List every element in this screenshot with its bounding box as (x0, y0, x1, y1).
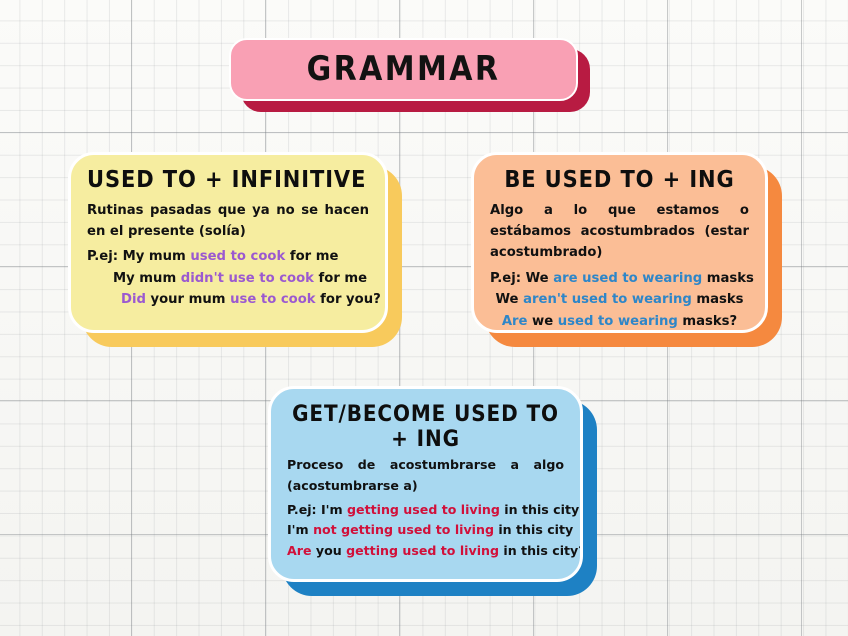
example-mid: your mum (146, 292, 230, 307)
poster-canvas: GRAMMAR USED TO + INFINITIVE Rutinas pas… (0, 0, 848, 636)
example-highlight: Did (121, 292, 146, 307)
example-suffix: for me (285, 249, 338, 264)
example-highlight: not getting used to living (313, 522, 494, 537)
example-suffix: in this city (494, 522, 573, 537)
example-interrogative: Did your mum use to cook for you? (87, 289, 369, 310)
card-used-to-examples: P.ej: My mum used to cook for me My mum … (87, 246, 369, 310)
example-highlight-2: use to cook (230, 292, 315, 307)
example-prefix: My mum (113, 271, 181, 286)
example-suffix: for you? (316, 292, 381, 307)
example-prefix: P.ej: We (490, 271, 553, 286)
example-negative: We aren't used to wearing masks (490, 289, 749, 310)
card-used-to-heading: USED TO + INFINITIVE (87, 167, 369, 193)
card-be-used-to-examples: P.ej: We are used to wearing masks We ar… (490, 268, 749, 332)
example-suffix: masks (702, 271, 754, 286)
example-highlight: aren't used to wearing (523, 292, 692, 307)
card-be-used-to-definition: Algo a lo que estamos o estábamos acostu… (490, 200, 749, 264)
title-banner-face: GRAMMAR (229, 38, 578, 101)
example-suffix: in this city (500, 502, 579, 517)
example-suffix: for me (314, 271, 367, 286)
card-used-to-definition: Rutinas pasadas que ya no se hacen en el… (87, 200, 369, 243)
card-get-used-to-definition: Proceso de acostumbrarse a algo (acostum… (287, 455, 564, 496)
example-interrogative: Are we used to wearing masks? (490, 311, 749, 332)
card-used-to-infinitive: USED TO + INFINITIVE Rutinas pasadas que… (68, 152, 388, 333)
example-mid: we (527, 314, 557, 329)
card-get-become-used-to-ing: GET/BECOME USED TO + ING Proceso de acos… (268, 386, 583, 582)
example-affirmative: P.ej: My mum used to cook for me (87, 246, 369, 267)
example-highlight: are used to wearing (553, 271, 702, 286)
example-highlight-2: used to wearing (558, 314, 678, 329)
example-negative: I'm not getting used to living in this c… (287, 520, 564, 540)
example-negative: My mum didn't use to cook for me (87, 268, 369, 289)
example-mid: you (312, 543, 347, 558)
example-prefix: I'm (287, 522, 313, 537)
card-be-used-to-ing: BE USED TO + ING Algo a lo que estamos o… (471, 152, 768, 333)
card-be-used-to-face: BE USED TO + ING Algo a lo que estamos o… (471, 152, 768, 333)
example-highlight: getting used to living (347, 502, 500, 517)
example-prefix: We (495, 292, 523, 307)
example-highlight: used to cook (190, 249, 285, 264)
example-interrogative: Are you getting used to living in this c… (287, 541, 564, 561)
example-affirmative: P.ej: We are used to wearing masks (490, 268, 749, 289)
page-title: GRAMMAR (307, 50, 501, 89)
card-be-used-to-heading: BE USED TO + ING (490, 167, 749, 193)
example-suffix: masks? (678, 314, 737, 329)
example-prefix: P.ej: My mum (87, 249, 190, 264)
example-suffix: in this city? (499, 543, 583, 558)
card-used-to-face: USED TO + INFINITIVE Rutinas pasadas que… (68, 152, 388, 333)
card-get-used-to-face: GET/BECOME USED TO + ING Proceso de acos… (268, 386, 583, 582)
example-highlight: Are (502, 314, 528, 329)
example-highlight: Are (287, 543, 312, 558)
example-highlight-2: getting used to living (346, 543, 499, 558)
card-get-used-to-heading: GET/BECOME USED TO + ING (287, 401, 564, 451)
example-affirmative: P.ej: I'm getting used to living in this… (287, 500, 564, 520)
example-highlight: didn't use to cook (181, 271, 314, 286)
card-get-used-to-examples: P.ej: I'm getting used to living in this… (287, 500, 564, 561)
example-prefix: P.ej: I'm (287, 502, 347, 517)
title-banner: GRAMMAR (229, 38, 578, 101)
example-suffix: masks (692, 292, 744, 307)
